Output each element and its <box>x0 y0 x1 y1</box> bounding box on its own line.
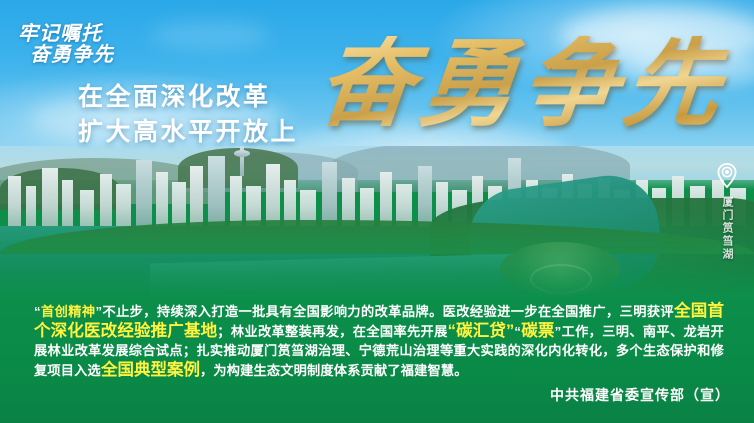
map-pin-icon <box>712 163 742 193</box>
publisher-signature: 中共福建省委宣传部（宣） <box>550 385 730 405</box>
body-highlight-large: “碳汇贷” <box>448 322 515 340</box>
campaign-logo-line1: 牢记嘱托 <box>16 24 114 45</box>
headline-line2: 扩大高水平开放上 <box>78 115 298 150</box>
poster-canvas: 牢记嘱托 奋勇争先 在全面深化改革 扩大高水平开放上 奋勇争先 厦门筼筜湖 “首… <box>0 0 754 423</box>
body-highlight-large: 碳票 <box>521 322 555 340</box>
body-highlight-large: 全国典型案例 <box>101 361 200 379</box>
headline-line1: 在全面深化改革 <box>78 80 298 115</box>
body-text-run: ”不止步，持续深入打造一批具有全国影响力的改革品牌。医改经验进一步在全国推广，三… <box>95 304 674 319</box>
calligraphy-title: 奋勇争先 <box>313 36 731 132</box>
location-label: 厦门筼筜湖 <box>719 196 735 261</box>
body-highlight: 首创精神 <box>41 304 96 319</box>
page-title: 在全面深化改革 扩大高水平开放上 <box>78 80 298 149</box>
body-text-run: ；林业改革整装再发，在全国率先开展 <box>217 324 447 339</box>
body-text-run: “ <box>34 304 41 319</box>
cloud-shape <box>150 20 270 50</box>
campaign-logo: 牢记嘱托 奋勇争先 <box>16 24 114 66</box>
green-gradient-overlay <box>0 146 754 296</box>
campaign-logo-line2: 奋勇争先 <box>16 45 114 66</box>
body-paragraph: “首创精神”不止步，持续深入打造一批具有全国影响力的改革品牌。医改经验进一步在全… <box>34 302 724 380</box>
body-text-run: ，为构建生态文明制度体系贡献了福建智慧。 <box>200 363 468 378</box>
location-marker: 厦门筼筜湖 <box>712 163 742 261</box>
